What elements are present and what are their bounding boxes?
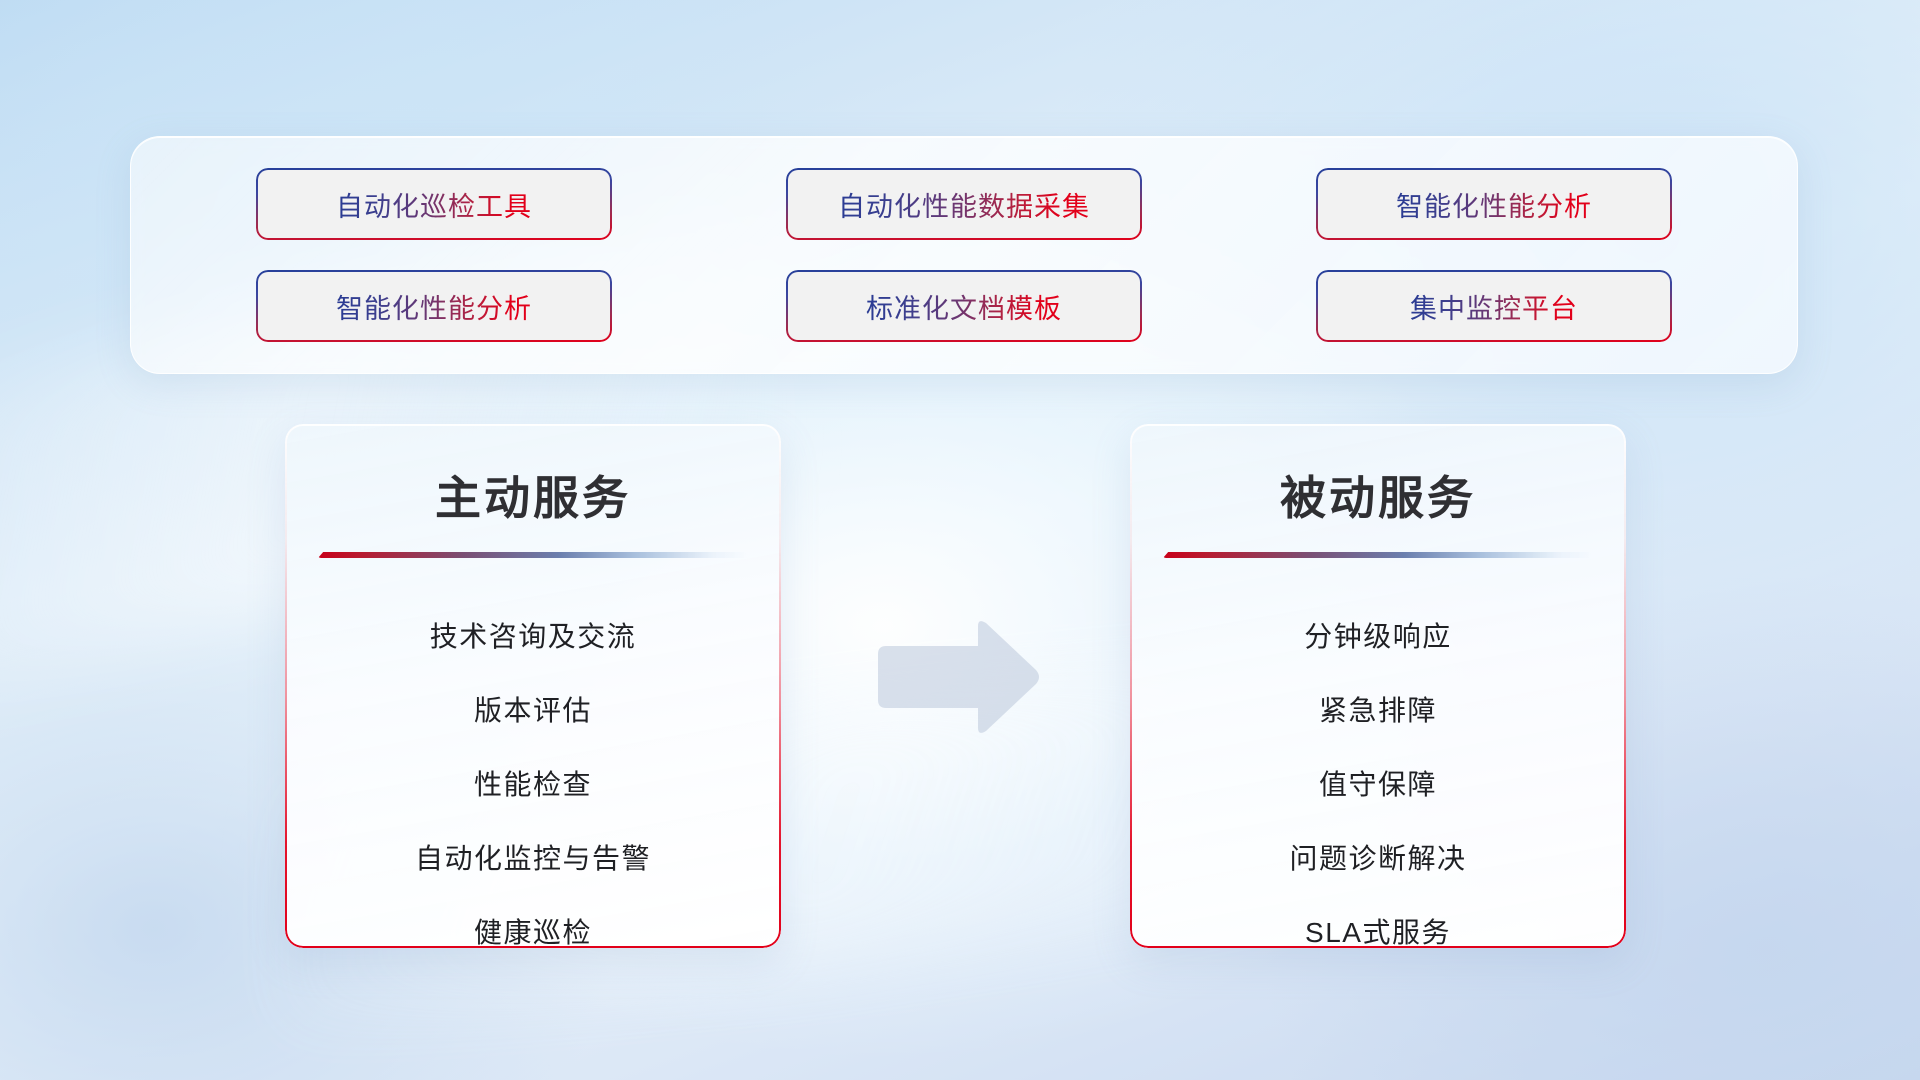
service-list-passive: 分钟级响应 紧急排障 值守保障 问题诊断解决 SLA式服务 (1130, 558, 1626, 948)
capability-label: 智能化性能分析 (336, 287, 532, 326)
capability-label: 智能化性能分析 (1396, 185, 1592, 224)
list-item: 值守保障 (1130, 746, 1626, 820)
list-item: 健康巡检 (285, 894, 781, 948)
capability-button-5[interactable]: 集中监控平台 (1316, 270, 1672, 342)
capability-button-0[interactable]: 自动化巡检工具 (256, 168, 612, 240)
service-list-active: 技术咨询及交流 版本评估 性能检查 自动化监控与告警 健康巡检 (285, 558, 781, 948)
slide-canvas: 自动化巡检工具 自动化性能数据采集 智能化性能分析 智能化性能分析 标准化文档模… (0, 0, 1920, 1080)
list-item: 性能检查 (285, 746, 781, 820)
capability-button-1[interactable]: 自动化性能数据采集 (786, 168, 1142, 240)
capability-button-2[interactable]: 智能化性能分析 (1316, 168, 1672, 240)
card-title-passive: 被动服务 (1130, 462, 1626, 528)
arrow-right-icon (874, 618, 1042, 736)
list-item: 分钟级响应 (1130, 598, 1626, 672)
service-card-passive: 被动服务 分钟级响应 紧急排障 值守保障 问题诊断解决 SLA式服务 (1130, 424, 1626, 948)
card-title-active: 主动服务 (285, 462, 781, 528)
list-item: 自动化监控与告警 (285, 820, 781, 894)
capability-label: 自动化巡检工具 (336, 185, 532, 224)
capability-label: 自动化性能数据采集 (838, 185, 1090, 224)
list-item: SLA式服务 (1130, 894, 1626, 948)
capability-label: 集中监控平台 (1410, 287, 1578, 326)
list-item: 技术咨询及交流 (285, 598, 781, 672)
service-card-active: 主动服务 技术咨询及交流 版本评估 性能检查 自动化监控与告警 健康巡检 (285, 424, 781, 948)
list-item: 问题诊断解决 (1130, 820, 1626, 894)
list-item: 紧急排障 (1130, 672, 1626, 746)
capability-button-4[interactable]: 标准化文档模板 (786, 270, 1142, 342)
capability-panel: 自动化巡检工具 自动化性能数据采集 智能化性能分析 智能化性能分析 标准化文档模… (130, 136, 1798, 374)
capability-label: 标准化文档模板 (866, 287, 1062, 326)
capability-button-3[interactable]: 智能化性能分析 (256, 270, 612, 342)
list-item: 版本评估 (285, 672, 781, 746)
